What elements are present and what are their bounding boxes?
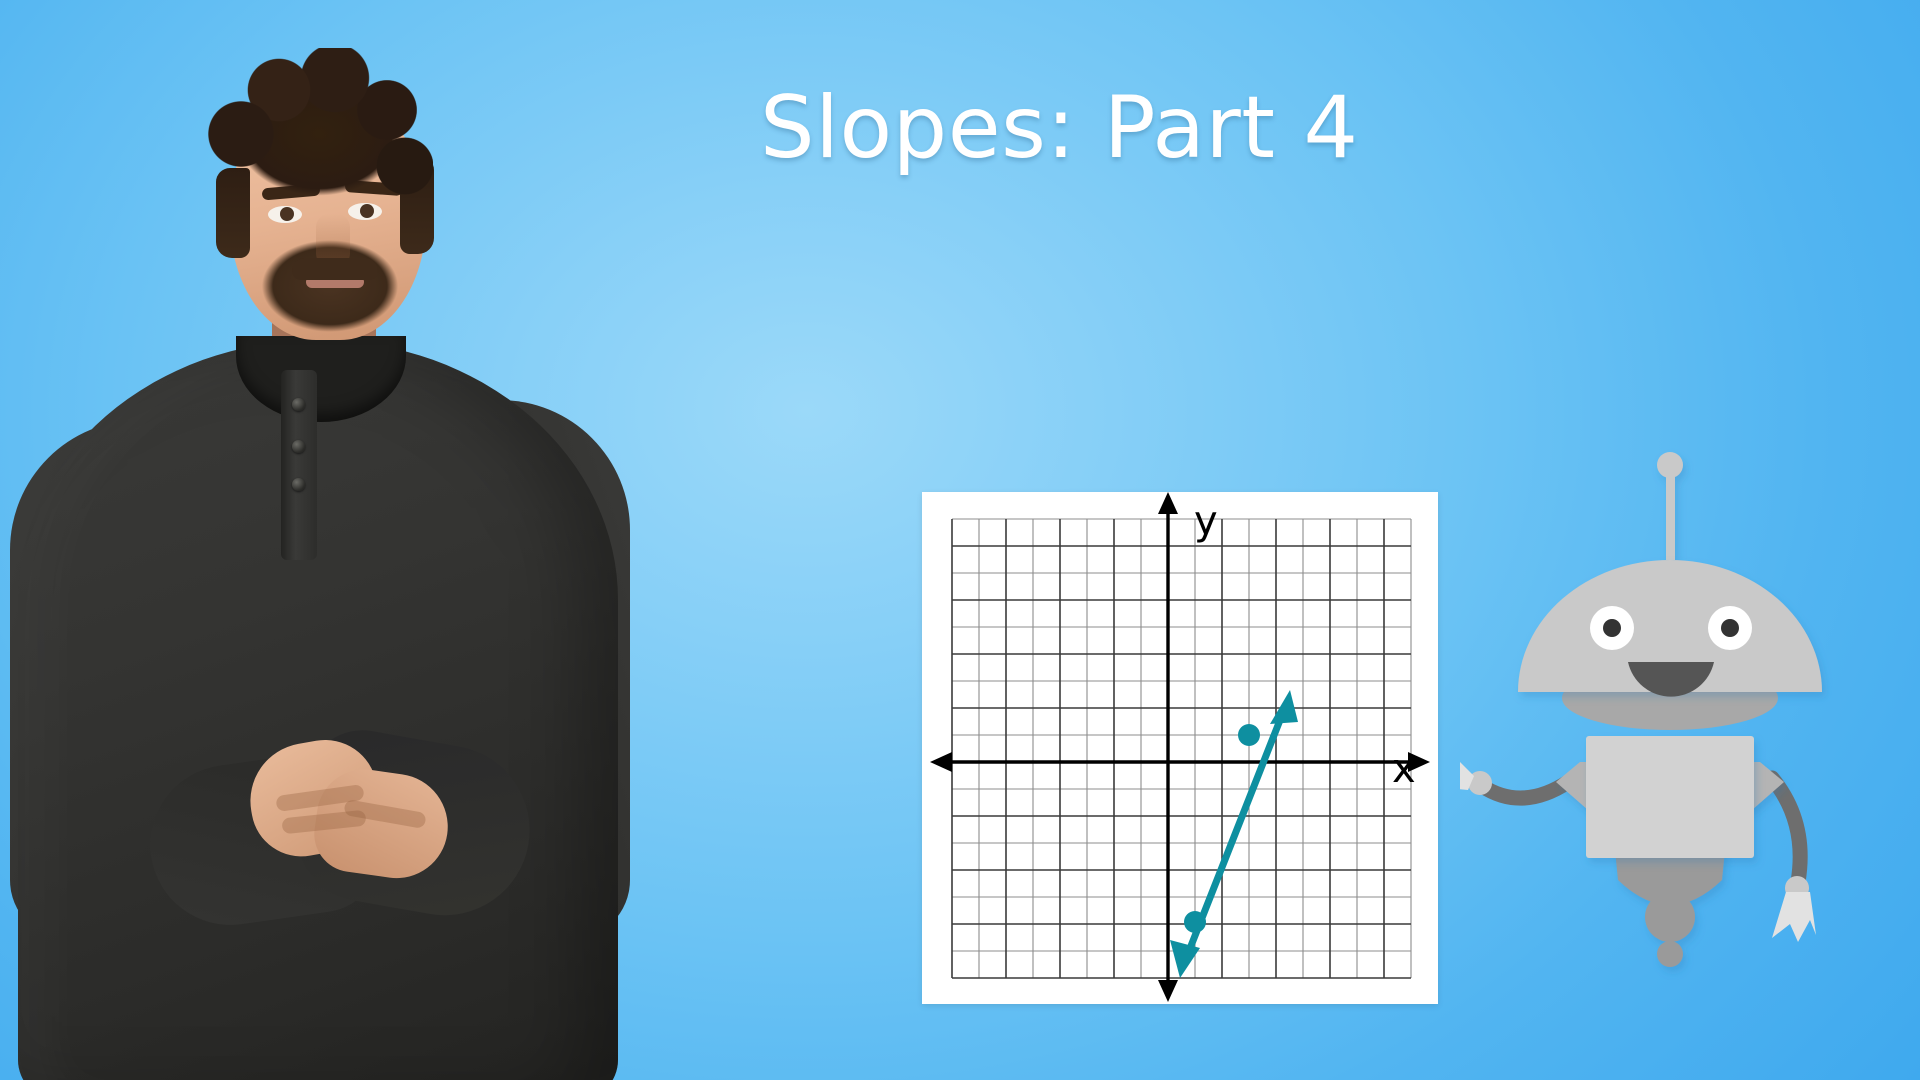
x-axis-label: x (1392, 746, 1416, 792)
chart-gridlines (952, 519, 1411, 978)
robot-illustration (1460, 430, 1880, 1010)
shirt-button-icon (292, 440, 305, 453)
shirt-button-icon (292, 398, 305, 411)
chart-point-marker (1238, 724, 1260, 746)
robot-antenna (1657, 452, 1683, 560)
robot-mascot (1460, 430, 1880, 1010)
shirt-button-icon (292, 478, 305, 491)
robot-left-arm (1460, 752, 1568, 798)
robot-right-arm (1772, 778, 1816, 942)
line-arrowhead-up (1270, 690, 1298, 724)
coordinate-graph-card: y x (922, 492, 1438, 1004)
chart-point-marker (1184, 911, 1206, 933)
robot-left-pupil (1603, 619, 1621, 637)
slide-title: Slopes: Part 4 (760, 78, 1460, 178)
chart-line-series (1170, 690, 1298, 978)
robot-right-pupil (1721, 619, 1739, 637)
presenter-shirt (18, 340, 618, 1080)
robot-right-claw (1772, 892, 1816, 942)
slide-canvas: Slopes: Part 4 (0, 0, 1920, 1080)
presenter-mustache (292, 258, 378, 280)
presenter-figure (0, 0, 640, 1080)
chart-gridlines-major (952, 519, 1411, 978)
coordinate-plane-chart: y x (922, 492, 1438, 1004)
presenter-hair (205, 48, 433, 248)
axis-arrowheads (930, 492, 1430, 1002)
y-axis-label: y (1194, 498, 1218, 544)
robot-torso-panel (1586, 736, 1754, 858)
